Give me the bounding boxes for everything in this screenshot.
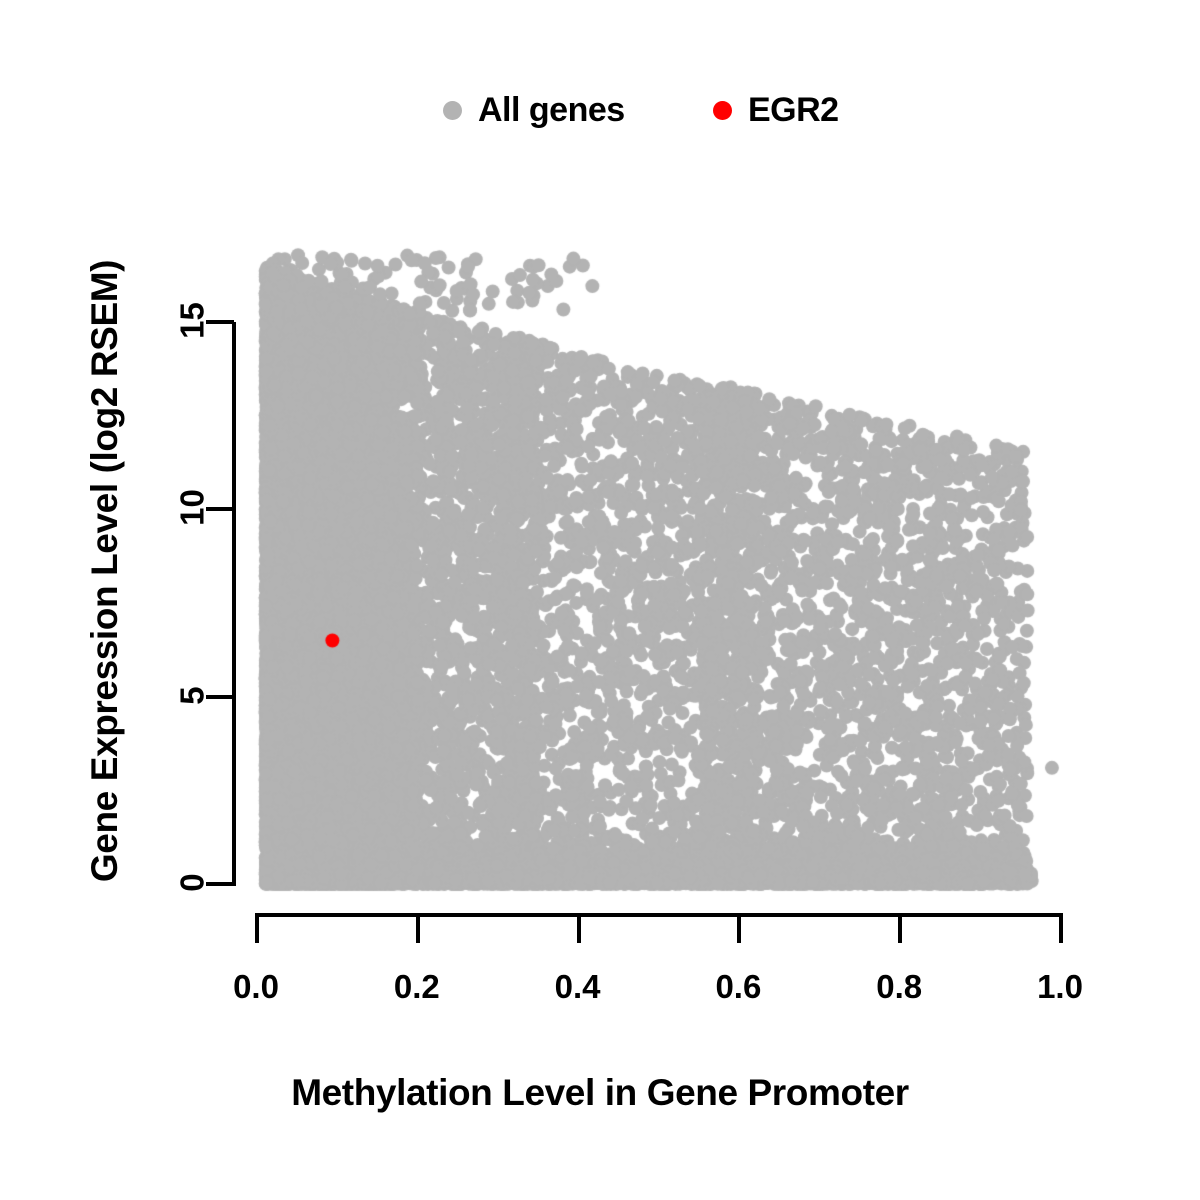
scatter-point-cloud — [0, 0, 1200, 1200]
plot-area — [0, 0, 1200, 1200]
y-axis-tick-label: 5 — [175, 650, 208, 740]
x-axis-tick — [255, 913, 259, 943]
scatter-plot-figure: All genes EGR2 0510150.00.20.40.60.81.0 … — [0, 0, 1200, 1200]
x-axis-line — [256, 913, 1063, 917]
x-axis-label: Methylation Level in Gene Promoter — [0, 1072, 1200, 1114]
x-axis-tick-label: 0.0 — [196, 970, 316, 1003]
y-axis-tick-label: 10 — [175, 463, 208, 553]
x-axis-tick — [416, 913, 420, 943]
y-axis-tick-label: 15 — [175, 276, 208, 366]
x-axis-tick-label: 0.4 — [518, 970, 638, 1003]
x-axis-tick-label: 1.0 — [1000, 970, 1120, 1003]
x-axis-tick-label: 0.2 — [357, 970, 477, 1003]
x-axis-tick — [737, 913, 741, 943]
x-axis-tick — [1059, 913, 1063, 943]
y-axis-tick-label: 0 — [175, 838, 208, 928]
x-axis-tick — [898, 913, 902, 943]
y-axis-line — [232, 322, 236, 886]
x-axis-tick-label: 0.6 — [678, 970, 798, 1003]
x-axis-tick — [577, 913, 581, 943]
x-axis-tick-label: 0.8 — [839, 970, 959, 1003]
y-axis-label: Gene Expression Level (log2 RSEM) — [84, 171, 126, 971]
